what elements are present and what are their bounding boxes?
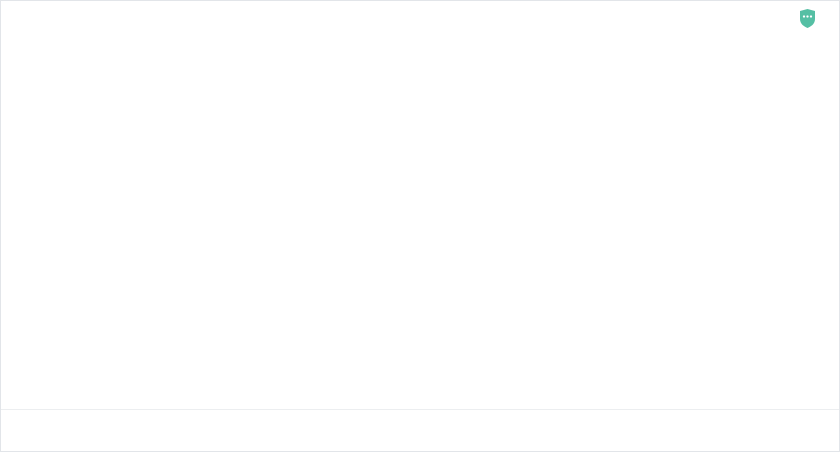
y-axis-left	[1, 50, 55, 382]
chart-figure	[0, 0, 840, 452]
brand-logo	[799, 9, 823, 28]
y-axis-right	[767, 50, 827, 382]
shield-icon	[799, 9, 816, 28]
x-axis	[59, 387, 763, 405]
plot-area	[59, 50, 763, 382]
chart-legend	[1, 409, 839, 442]
